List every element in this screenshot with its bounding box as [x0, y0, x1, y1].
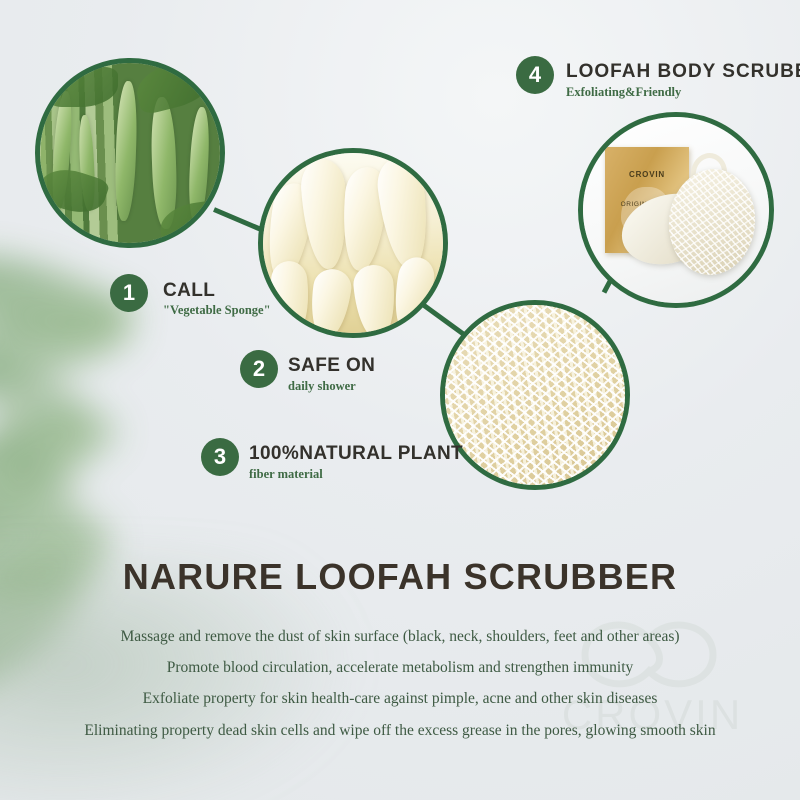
step-subtitle-4: Exfoliating&Friendly — [566, 85, 681, 100]
description-line: Promote blood circulation, accelerate me… — [0, 659, 800, 677]
loofah-scrubber-product-photo: CROVIN ORIGINAL BEA — [578, 112, 774, 308]
step-badge-2: 2 — [240, 350, 278, 388]
loofah-fiber-texture-photo — [440, 300, 630, 490]
step-title-2: SAFE ON — [288, 355, 375, 377]
product-infographic: CROVIN — [0, 0, 800, 800]
step-subtitle-1: "Vegetable Sponge" — [163, 303, 271, 318]
description-line: Exfoliate property for skin health-care … — [0, 690, 800, 708]
description-line: Eliminating property dead skin cells and… — [0, 722, 800, 740]
step-subtitle-2: daily shower — [288, 379, 356, 394]
step-title-4: LOOFAH BODY SCRUBBER — [566, 61, 800, 83]
dried-loofah-gourds-photo — [258, 148, 448, 338]
step-badge-1: 1 — [110, 274, 148, 312]
step-title-1: CALL — [163, 280, 215, 302]
package-brand-text: CROVIN — [605, 170, 689, 179]
page-title: NARURE LOOFAH SCRUBBER — [0, 556, 800, 598]
description-line: Massage and remove the dust of skin surf… — [0, 628, 800, 646]
step-subtitle-3: fiber material — [249, 467, 323, 482]
step-badge-3: 3 — [201, 438, 239, 476]
loofah-vines-photo — [35, 58, 225, 248]
step-title-3: 100%NATURAL PLANT — [249, 443, 463, 465]
step-badge-4: 4 — [516, 56, 554, 94]
